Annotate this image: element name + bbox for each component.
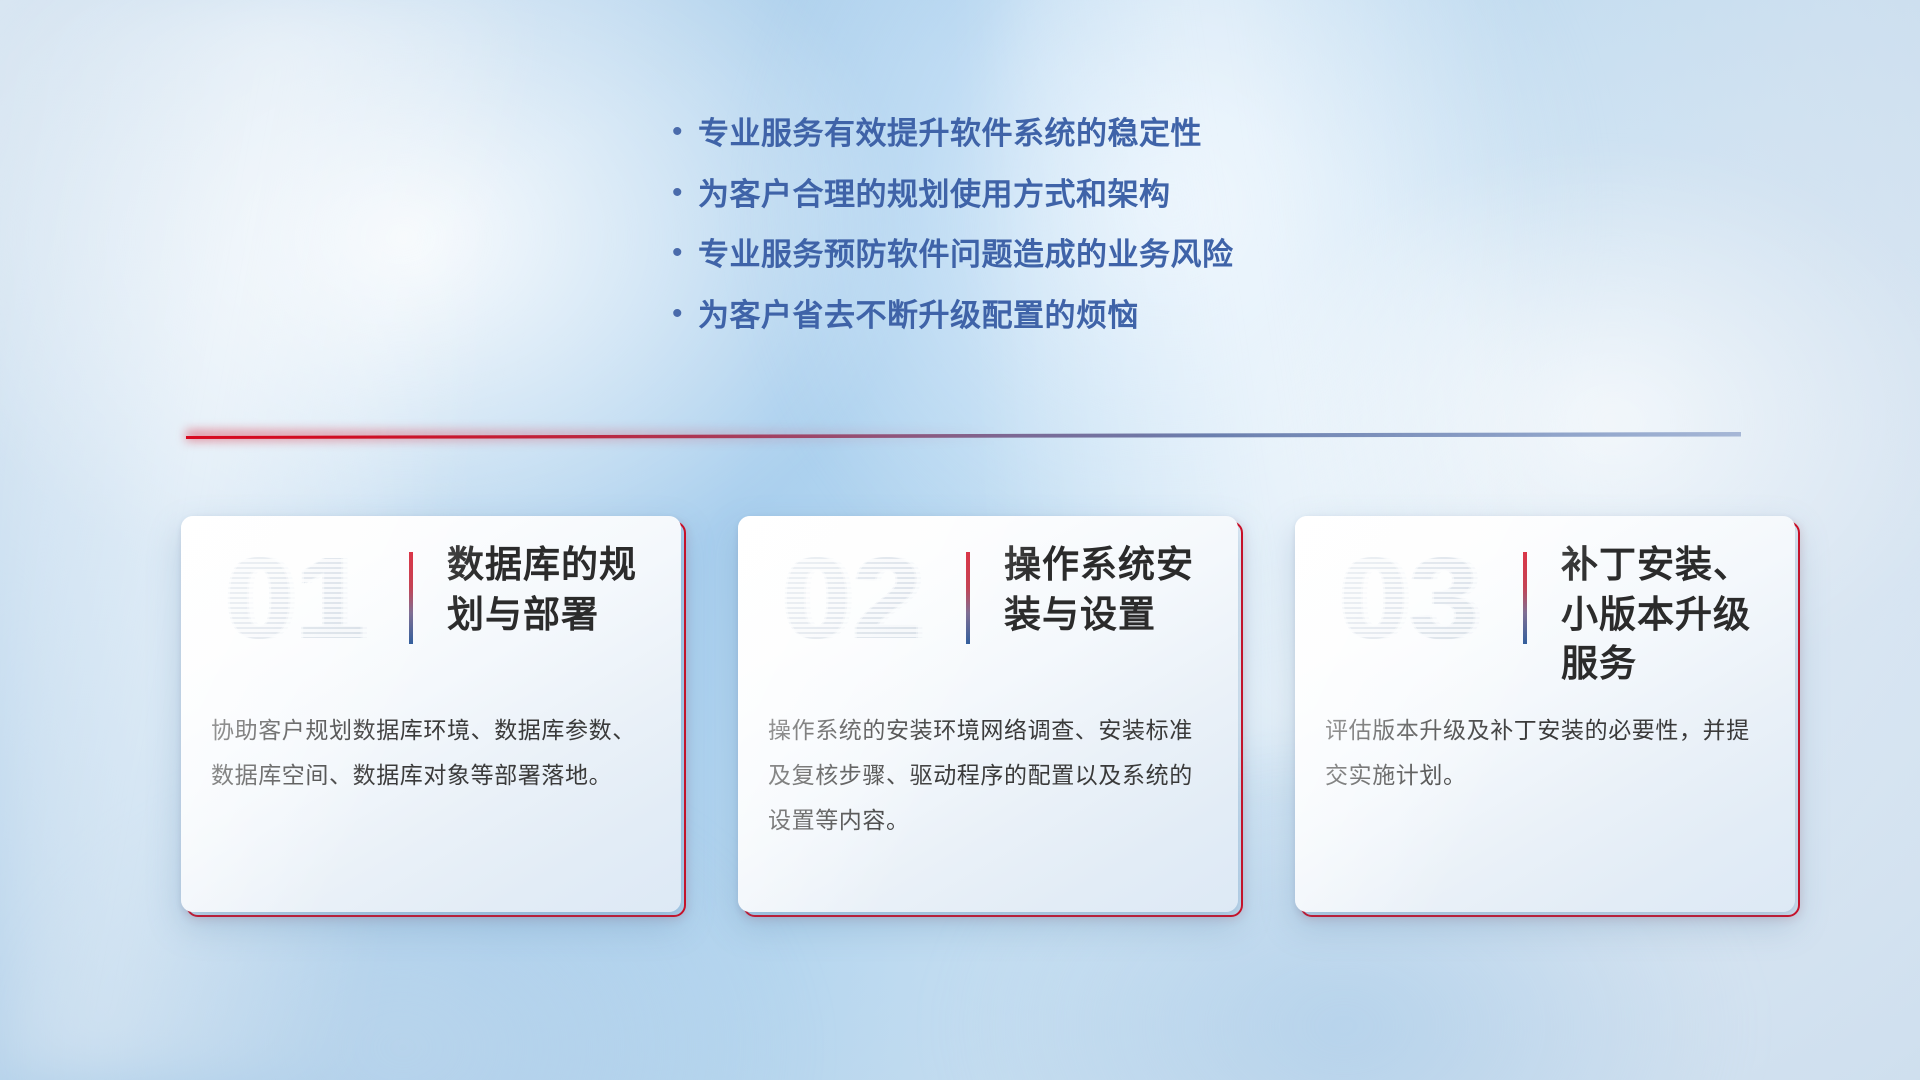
- service-card-01[interactable]: 01 数据库的规划与部署 协助客户规划数据库环境、数据库参数、数据库空间、数据库…: [186, 521, 686, 917]
- list-item: • 为客户省去不断升级配置的烦恼: [672, 296, 1234, 336]
- section-divider: [186, 428, 1741, 446]
- card-title-accent-bar: [1523, 552, 1527, 644]
- card-title-accent-bar: [409, 552, 413, 644]
- list-item: • 为客户合理的规划使用方式和架构: [672, 175, 1234, 215]
- card-number-watermark: 03: [1319, 532, 1501, 664]
- card-header: 03 补丁安装、小版本升级服务: [1295, 516, 1795, 694]
- service-card-03[interactable]: 03 补丁安装、小版本升级服务 评估版本升级及补丁安装的必要性，并提交实施计划。: [1300, 521, 1800, 917]
- service-card-02[interactable]: 02 操作系统安装与设置 操作系统的安装环境网络调查、安装标准及复核步骤、驱动程…: [743, 521, 1243, 917]
- card-title: 操作系统安装与设置: [1004, 540, 1212, 639]
- card-number-watermark: 01: [205, 532, 387, 664]
- card-description: 操作系统的安装环境网络调查、安装标准及复核步骤、驱动程序的配置以及系统的设置等内…: [768, 708, 1212, 843]
- bullet-dot-icon: •: [672, 238, 698, 268]
- card-title-accent-bar: [966, 552, 970, 644]
- service-card-list: 01 数据库的规划与部署 协助客户规划数据库环境、数据库参数、数据库空间、数据库…: [186, 521, 1800, 917]
- bullet-item-text: 专业服务有效提升软件系统的稳定性: [698, 114, 1202, 154]
- card-surface: 02 操作系统安装与设置 操作系统的安装环境网络调查、安装标准及复核步骤、驱动程…: [738, 516, 1238, 912]
- card-header: 02 操作系统安装与设置: [738, 516, 1238, 694]
- benefits-bullet-list: • 专业服务有效提升软件系统的稳定性 • 为客户合理的规划使用方式和架构 • 专…: [672, 114, 1234, 357]
- list-item: • 专业服务预防软件问题造成的业务风险: [672, 235, 1234, 275]
- card-number-watermark: 02: [762, 532, 944, 664]
- slide-content: • 专业服务有效提升软件系统的稳定性 • 为客户合理的规划使用方式和架构 • 专…: [0, 0, 1920, 1080]
- card-surface: 03 补丁安装、小版本升级服务 评估版本升级及补丁安装的必要性，并提交实施计划。: [1295, 516, 1795, 912]
- card-title: 补丁安装、小版本升级服务: [1561, 540, 1769, 689]
- bullet-dot-icon: •: [672, 299, 698, 329]
- bullet-item-text: 专业服务预防软件问题造成的业务风险: [698, 235, 1234, 275]
- card-number-text: 01: [225, 540, 366, 656]
- card-description: 协助客户规划数据库环境、数据库参数、数据库空间、数据库对象等部署落地。: [211, 708, 655, 798]
- card-number-text: 02: [782, 540, 923, 656]
- list-item: • 专业服务有效提升软件系统的稳定性: [672, 114, 1234, 154]
- card-number-text: 03: [1339, 540, 1480, 656]
- bullet-item-text: 为客户省去不断升级配置的烦恼: [698, 296, 1139, 336]
- bullet-dot-icon: •: [672, 117, 698, 147]
- bullet-item-text: 为客户合理的规划使用方式和架构: [698, 175, 1171, 215]
- bullet-dot-icon: •: [672, 178, 698, 208]
- card-surface: 01 数据库的规划与部署 协助客户规划数据库环境、数据库参数、数据库空间、数据库…: [181, 516, 681, 912]
- card-header: 01 数据库的规划与部署: [181, 516, 681, 694]
- card-description: 评估版本升级及补丁安装的必要性，并提交实施计划。: [1325, 708, 1769, 798]
- card-title: 数据库的规划与部署: [447, 540, 655, 639]
